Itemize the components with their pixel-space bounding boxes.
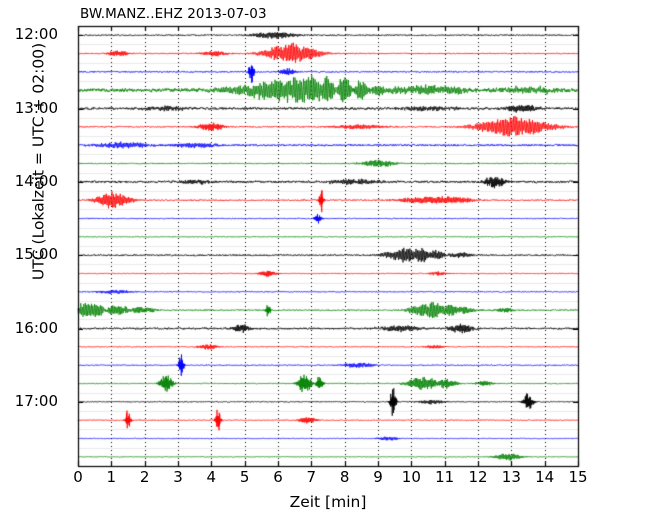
x-tick-label: 0 xyxy=(73,468,83,486)
x-tick-label: 3 xyxy=(173,468,183,486)
x-tick-label: 14 xyxy=(535,468,554,486)
x-tick-label: 13 xyxy=(502,468,521,486)
y-axis-label-text: UTC (Lokalzeit = UTC + 02:00) xyxy=(30,43,48,280)
x-tick-label: 5 xyxy=(240,468,250,486)
y-tick-label: 16:00 xyxy=(15,319,58,337)
page-title: BW.MANZ..EHZ 2013-07-03 xyxy=(80,6,267,22)
x-tick-label: 7 xyxy=(307,468,317,486)
x-tick-label: 8 xyxy=(340,468,350,486)
x-tick-label: 10 xyxy=(402,468,421,486)
x-tick-label: 4 xyxy=(207,468,217,486)
x-tick-label: 1 xyxy=(107,468,117,486)
x-tick-label: 9 xyxy=(373,468,383,486)
seismogram-figure: BW.MANZ..EHZ 2013-07-03 12:0013:0014:001… xyxy=(0,0,650,520)
y-axis-label: UTC (Lokalzeit = UTC + 02:00) xyxy=(29,32,48,292)
x-tick-label: 6 xyxy=(273,468,283,486)
helicorder-plot-canvas xyxy=(0,0,650,520)
x-axis-label: Zeit [min] xyxy=(78,492,578,511)
x-axis-tick-labels: 0123456789101112131415 xyxy=(0,466,650,492)
x-tick-label: 15 xyxy=(568,468,587,486)
x-tick-label: 12 xyxy=(468,468,487,486)
x-axis-label-text: Zeit [min] xyxy=(290,493,367,511)
x-tick-label: 2 xyxy=(140,468,150,486)
x-tick-label: 11 xyxy=(435,468,454,486)
y-tick-label: 17:00 xyxy=(15,392,58,410)
